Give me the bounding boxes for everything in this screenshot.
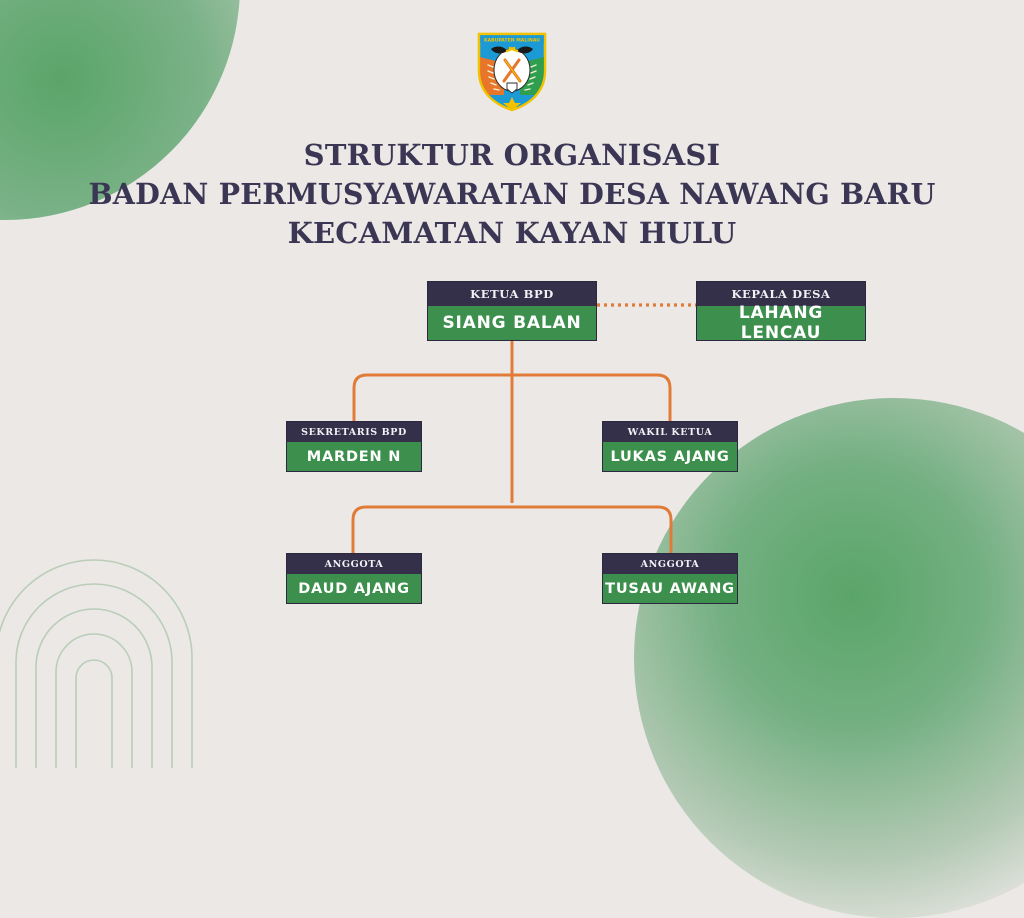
org-node-person: SIANG BALAN	[428, 306, 596, 340]
org-chart-poster: KABUPATEN MALINAU STRUKTUR ORGANISASI BA…	[0, 0, 1024, 768]
org-node-kepala-desa[interactable]: KEPALA DESA LAHANG LENCAU	[696, 281, 866, 341]
page-title: STRUKTUR ORGANISASI BADAN PERMUSYAWARATA…	[0, 136, 1024, 253]
org-node-anggota-tusau-awang[interactable]: ANGGOTA TUSAU AWANG	[602, 553, 738, 604]
org-node-role: ANGGOTA	[603, 554, 737, 574]
concentric-arches-decoration	[0, 528, 234, 768]
org-node-role: KETUA BPD	[428, 282, 596, 306]
org-node-person: LUKAS AJANG	[603, 442, 737, 471]
org-node-wakil-ketua[interactable]: WAKIL KETUA LUKAS AJANG	[602, 421, 738, 472]
green-gradient-blob-bottom-right	[634, 398, 1024, 918]
kabupaten-malinau-emblem-icon: KABUPATEN MALINAU	[474, 29, 550, 113]
org-node-person: TUSAU AWANG	[603, 574, 737, 603]
org-node-ketua-bpd[interactable]: KETUA BPD SIANG BALAN	[427, 281, 597, 341]
org-node-role: WAKIL KETUA	[603, 422, 737, 442]
title-line-3: KECAMATAN KAYAN HULU	[0, 214, 1024, 253]
title-line-1: STRUKTUR ORGANISASI	[0, 136, 1024, 175]
org-node-person: DAUD AJANG	[287, 574, 421, 603]
org-node-role: SEKRETARIS BPD	[287, 422, 421, 442]
emblem-ring-text: KABUPATEN MALINAU	[484, 38, 540, 44]
org-node-anggota-daud-ajang[interactable]: ANGGOTA DAUD AJANG	[286, 553, 422, 604]
org-node-role: ANGGOTA	[287, 554, 421, 574]
edge-level2-bus	[353, 507, 671, 553]
org-node-person: MARDEN N	[287, 442, 421, 471]
org-node-person: LAHANG LENCAU	[697, 306, 865, 340]
connector-lines	[0, 0, 1024, 768]
title-line-2: BADAN PERMUSYAWARATAN DESA NAWANG BARU	[0, 175, 1024, 214]
edge-level1-bus	[354, 375, 670, 421]
org-node-sekretaris-bpd[interactable]: SEKRETARIS BPD MARDEN N	[286, 421, 422, 472]
